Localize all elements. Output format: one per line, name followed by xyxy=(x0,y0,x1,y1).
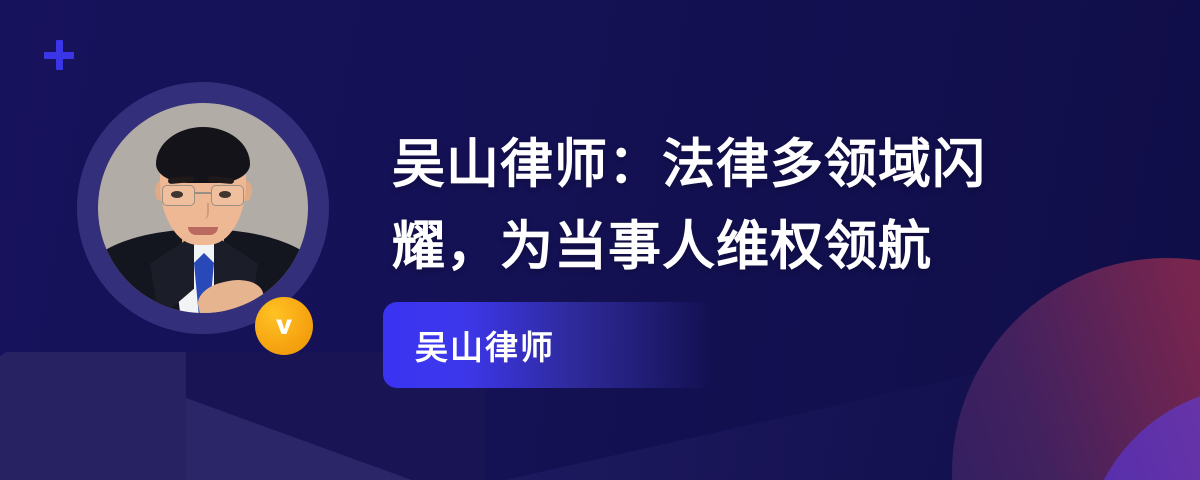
page-title: 吴山律师：法律多领域闪 耀，为当事人维权领航 xyxy=(392,124,1092,288)
lawyer-name-label: 吴山律师 xyxy=(415,321,555,369)
lawyer-promo-banner: 吴山律师：法律多领域闪 耀，为当事人维权领航 吴山律师 xyxy=(0,0,1200,480)
avatar xyxy=(77,82,329,334)
gradient-circle-inner xyxy=(1084,386,1200,480)
portrait-mouth xyxy=(188,227,218,235)
triangle-wedge-shape xyxy=(186,398,516,480)
glasses-lens-left xyxy=(162,185,195,206)
portrait-hair xyxy=(156,127,250,183)
headline-block: 吴山律师：法律多领域闪 耀，为当事人维权领航 xyxy=(392,124,1092,288)
portrait-nose xyxy=(197,203,209,219)
lawyer-name-chip[interactable]: 吴山律师 xyxy=(383,302,713,388)
verified-badge-icon xyxy=(255,297,313,355)
avatar-photo xyxy=(98,103,308,313)
plus-icon xyxy=(44,40,74,70)
glasses-bridge xyxy=(195,192,211,194)
glasses-lens-right xyxy=(211,185,244,206)
gradient-circle-outer xyxy=(952,258,1200,480)
